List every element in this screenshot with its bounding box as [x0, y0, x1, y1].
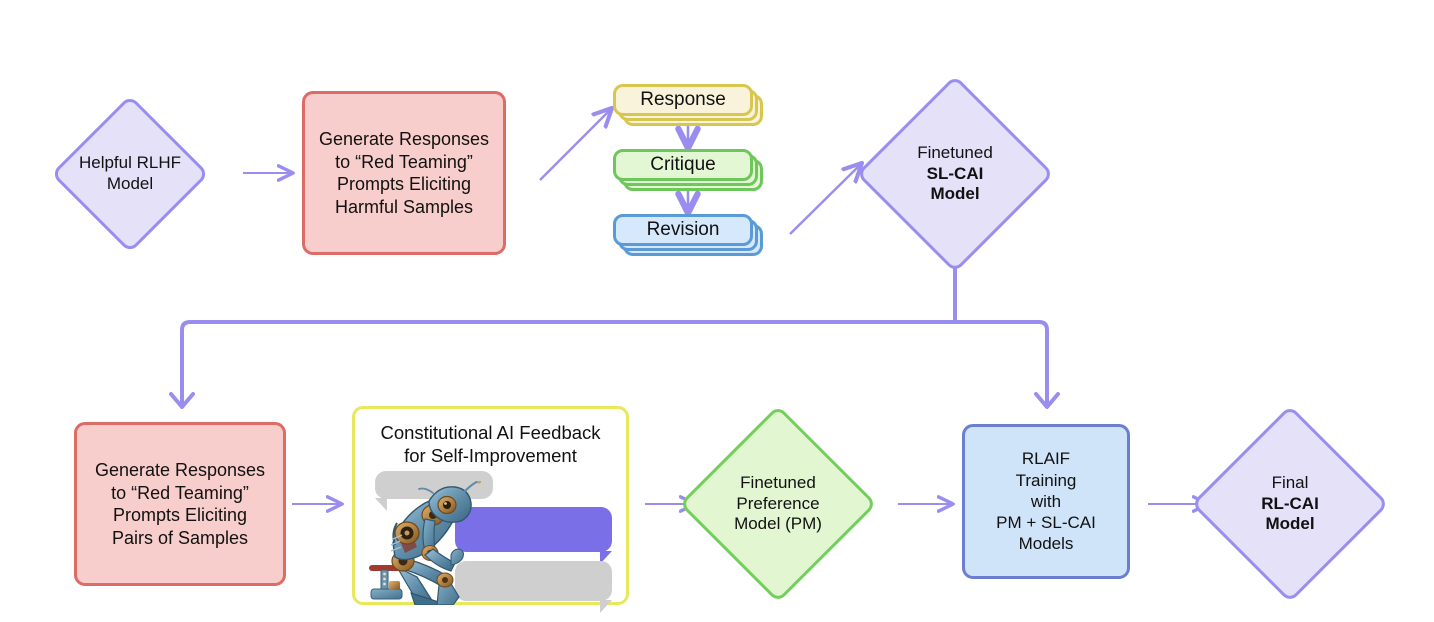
label-line-2: Training — [996, 470, 1096, 491]
label-line-2: Model — [79, 174, 181, 195]
label-line-1: Final — [1261, 473, 1319, 494]
edge-revision-to-slcai — [790, 164, 861, 234]
label-line-3: Model — [917, 184, 993, 205]
node-finetuned-preference-model[interactable]: Finetuned Preference Model (PM) — [708, 434, 848, 574]
node-label: Generate Responses to “Red Teaming” Prom… — [95, 459, 265, 549]
edge-slcai-to-generate-pairs — [182, 322, 955, 403]
label-line-3: Model — [1261, 514, 1319, 535]
node-finetuned-sl-cai-model[interactable]: Finetuned SL-CAI Model — [885, 104, 1025, 244]
node-rlaif-training[interactable]: RLAIF Training with PM + SL-CAI Models — [962, 424, 1130, 579]
node-label: RLAIF Training with PM + SL-CAI Models — [996, 448, 1096, 554]
node-generate-harmful-samples[interactable]: Generate Responses to “Red Teaming” Prom… — [302, 91, 506, 255]
node-constitutional-ai-feedback-panel[interactable]: Constitutional AI Feedback for Self-Impr… — [352, 406, 629, 605]
bubble-gray-bottom-tail — [600, 600, 612, 613]
thinking-robot-illustration — [367, 481, 489, 605]
edge-slcai-to-rlaif — [955, 322, 1047, 403]
panel-title: Constitutional AI Feedback for Self-Impr… — [355, 421, 626, 467]
label-line-3: Model (PM) — [734, 514, 822, 535]
label-line-3: Prompts Eliciting — [319, 173, 489, 196]
label-line-2: to “Red Teaming” — [319, 151, 489, 174]
node-label: Finetuned Preference Model (PM) — [734, 473, 822, 535]
card-stack-front: Critique — [613, 149, 753, 181]
label-line-3: Prompts Eliciting — [95, 504, 265, 527]
node-card-revision[interactable]: Revision — [613, 214, 765, 266]
label-line-2: SL-CAI — [917, 164, 993, 185]
node-card-response[interactable]: Response — [613, 84, 765, 136]
label-line-3: with — [996, 491, 1096, 512]
label-line-5: Models — [996, 533, 1096, 554]
node-label: Finetuned SL-CAI Model — [917, 143, 993, 205]
label-line-1: Helpful RLHF — [79, 153, 181, 174]
label-line-2: to “Red Teaming” — [95, 482, 265, 505]
label-line-1: Generate Responses — [95, 459, 265, 482]
node-label: Generate Responses to “Red Teaming” Prom… — [319, 128, 489, 218]
node-helpful-rlhf-model[interactable]: Helpful RLHF Model — [74, 118, 186, 230]
panel-title-line-2: for Self-Improvement — [355, 444, 626, 467]
label-line-4: Pairs of Samples — [95, 527, 265, 550]
diagram-canvas: Helpful RLHF Model Generate Responses to… — [0, 0, 1434, 622]
label-line-4: PM + SL-CAI — [996, 512, 1096, 533]
card-label: Revision — [647, 219, 720, 241]
label-line-1: RLAIF — [996, 448, 1096, 469]
node-label: Helpful RLHF Model — [79, 153, 181, 194]
card-stack-front: Revision — [613, 214, 753, 246]
label-line-2: Preference — [734, 494, 822, 515]
node-card-critique[interactable]: Critique — [613, 149, 765, 201]
label-line-1: Finetuned — [734, 473, 822, 494]
label-line-4: Harmful Samples — [319, 196, 489, 219]
node-label: Final RL-CAI Model — [1261, 473, 1319, 535]
label-line-2: RL-CAI — [1261, 494, 1319, 515]
edge-generate-to-response — [540, 109, 611, 180]
card-label: Response — [640, 89, 726, 111]
card-stack-front: Response — [613, 84, 753, 116]
card-label: Critique — [650, 154, 715, 176]
label-line-1: Finetuned — [917, 143, 993, 164]
panel-title-line-1: Constitutional AI Feedback — [355, 421, 626, 444]
node-final-rl-cai-model[interactable]: Final RL-CAI Model — [1220, 434, 1360, 574]
node-generate-pairs-of-samples[interactable]: Generate Responses to “Red Teaming” Prom… — [74, 422, 286, 586]
label-line-1: Generate Responses — [319, 128, 489, 151]
